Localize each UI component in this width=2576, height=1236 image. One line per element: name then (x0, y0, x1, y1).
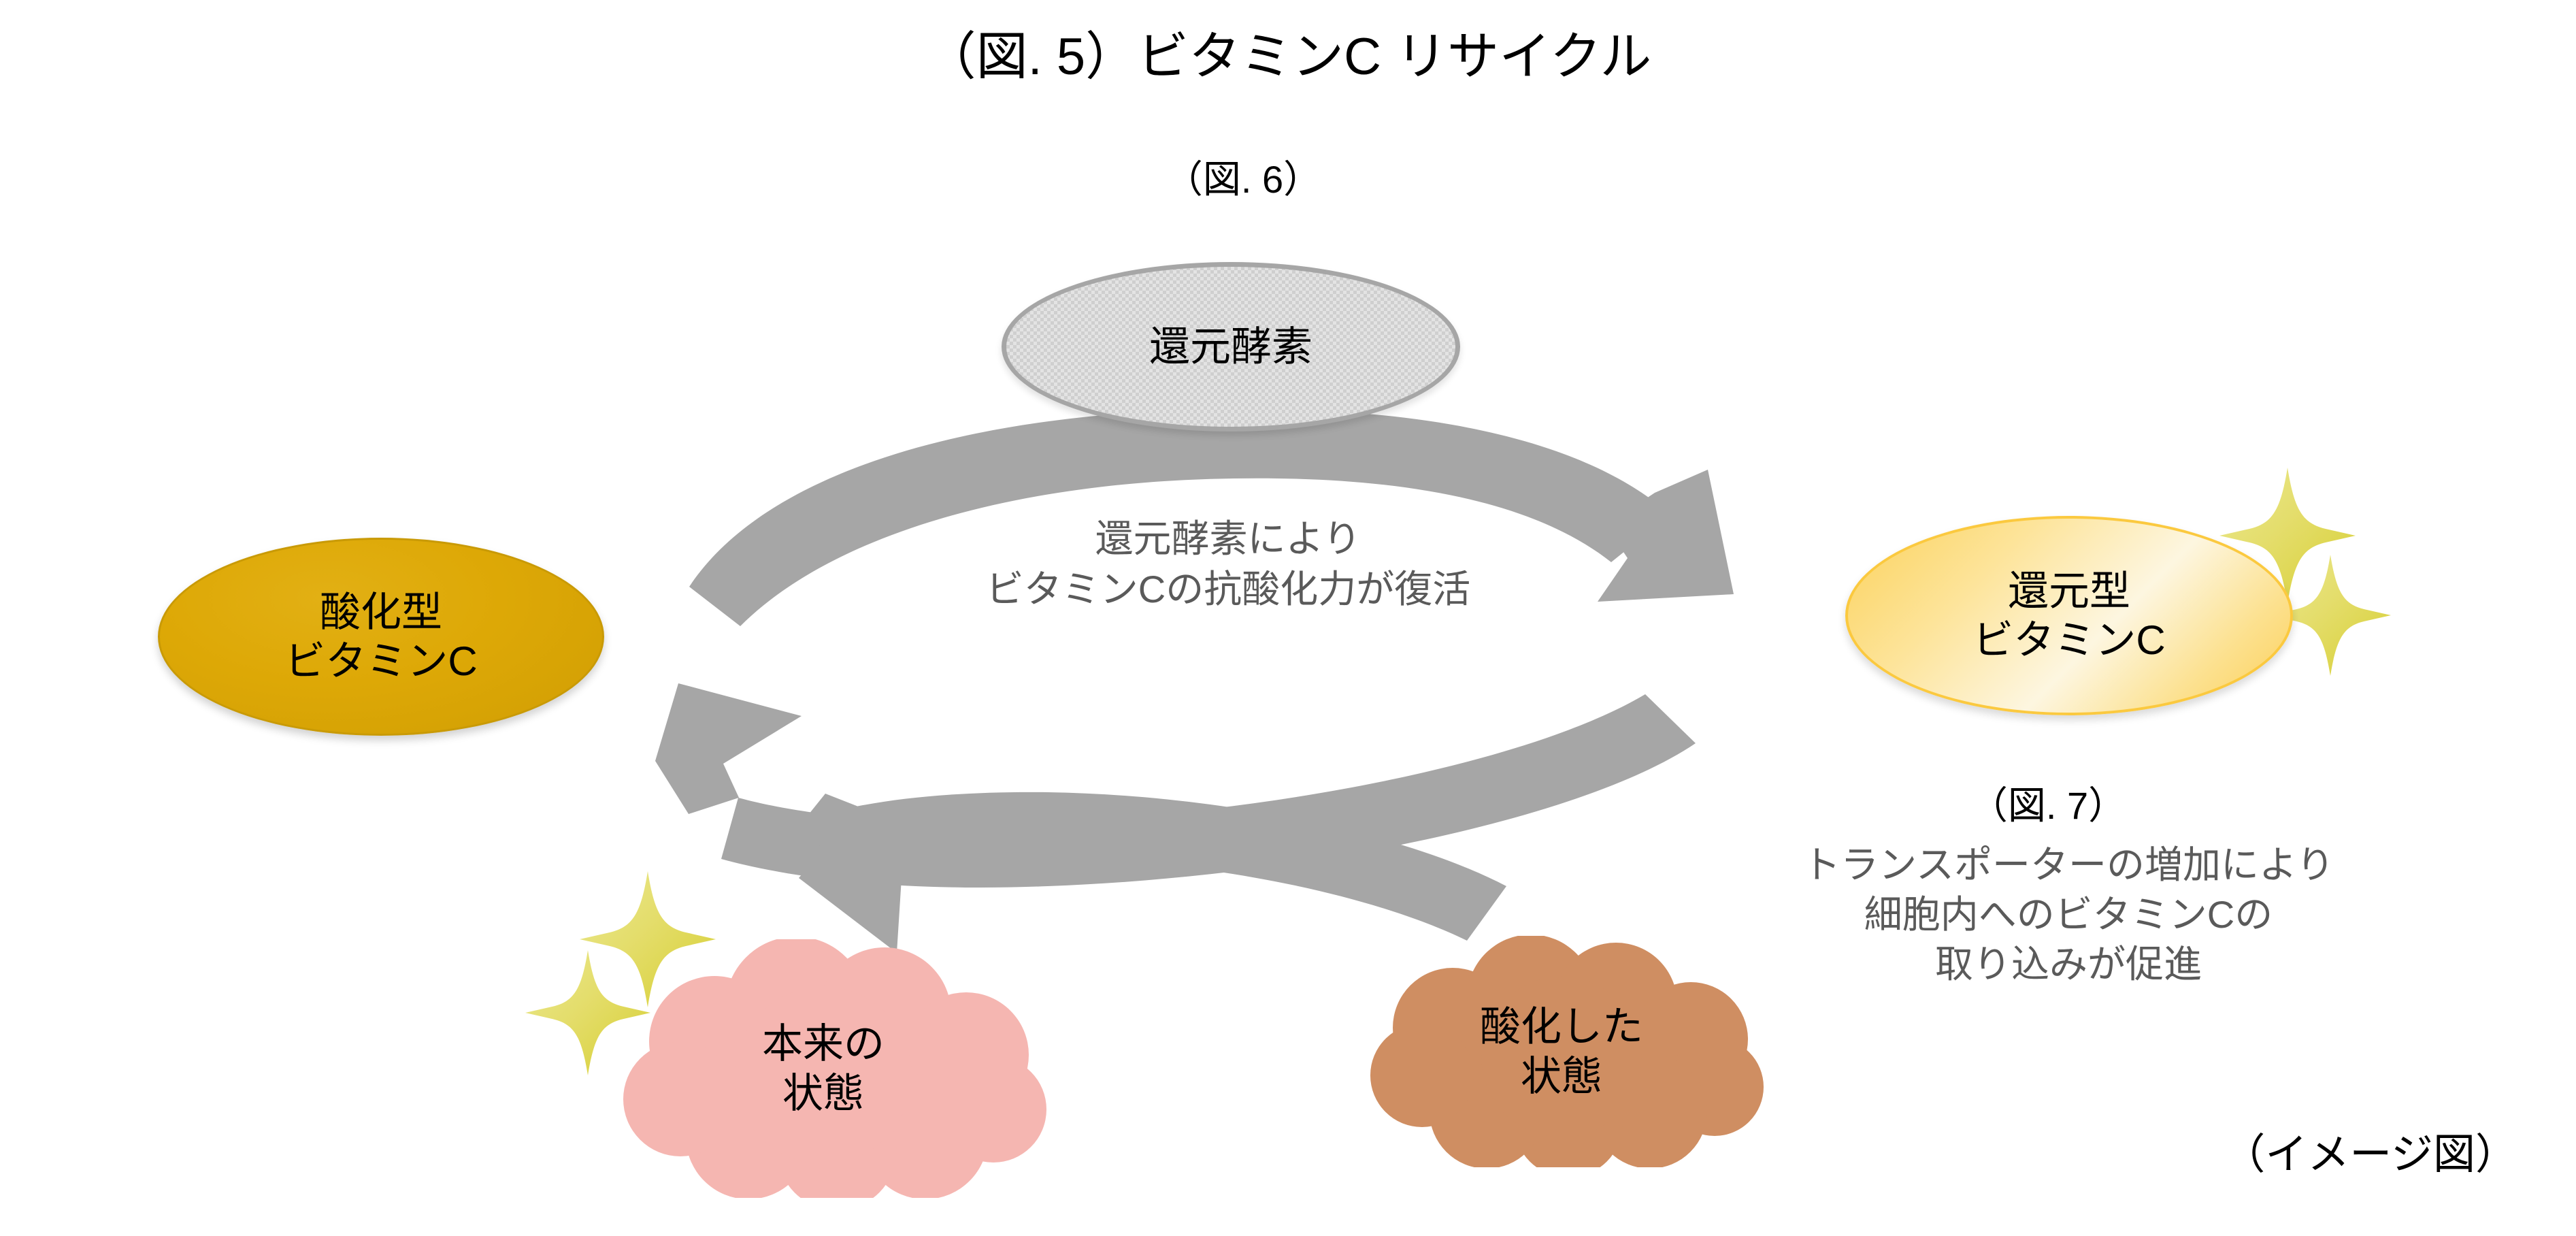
fig7-annotation-line2: 細胞内へのビタミンCの (1728, 890, 2409, 940)
node-native-state: 本来の 状態 (599, 939, 1048, 1198)
node-oxidized-vitamin-c-line1: 酸化型 (320, 588, 442, 637)
fig6-caption: （図. 6） (1053, 157, 1434, 202)
node-oxidized-vitamin-c: 酸化型 ビタミンC (158, 538, 604, 736)
cloud-shape-brown (1351, 936, 1772, 1167)
fig7-annotation-line3: 取り込みが促進 (1728, 940, 2409, 990)
node-reduced-vitamin-c: 還元型 ビタミンC (1845, 516, 2293, 715)
fig7-annotation-line1: トランスポーターの増加により (1728, 841, 2409, 890)
center-annotation-line2: ビタミンCの抗酸化力が復活 (810, 564, 1647, 615)
fig7-caption: （図. 7） (1857, 783, 2239, 828)
node-enzyme-text: 還元酵素 (1149, 323, 1312, 372)
center-annotation-line1: 還元酵素により (810, 514, 1647, 564)
node-oxidized-vitamin-c-label: 酸化型 ビタミンC (160, 540, 602, 734)
fig7-annotation: トランスポーターの増加により 細胞内へのビタミンCの 取り込みが促進 (1728, 841, 2409, 989)
center-annotation: 還元酵素により ビタミンCの抗酸化力が復活 (810, 514, 1647, 615)
node-enzyme: 還元酵素 (1002, 262, 1460, 432)
cloud-shape-pink (599, 939, 1048, 1198)
image-note: （イメージ図） (2014, 1130, 2517, 1180)
diagram-canvas: （図. 5）ビタミンC リサイクル （図. 6） 還元酵素 還元酵素により ビタ… (0, 0, 2576, 1236)
node-enzyme-label: 還元酵素 (1006, 267, 1455, 427)
node-oxidized-vitamin-c-line2: ビタミンC (284, 637, 477, 686)
page-title: （図. 5）ビタミンC リサイクル (0, 26, 2576, 88)
node-reduced-vitamin-c-line1: 還元型 (2008, 567, 2130, 616)
node-oxidized-state: 酸化した 状態 (1351, 936, 1772, 1167)
node-reduced-vitamin-c-label: 還元型 ビタミンC (1848, 519, 2290, 713)
node-reduced-vitamin-c-line2: ビタミンC (1972, 616, 2165, 665)
